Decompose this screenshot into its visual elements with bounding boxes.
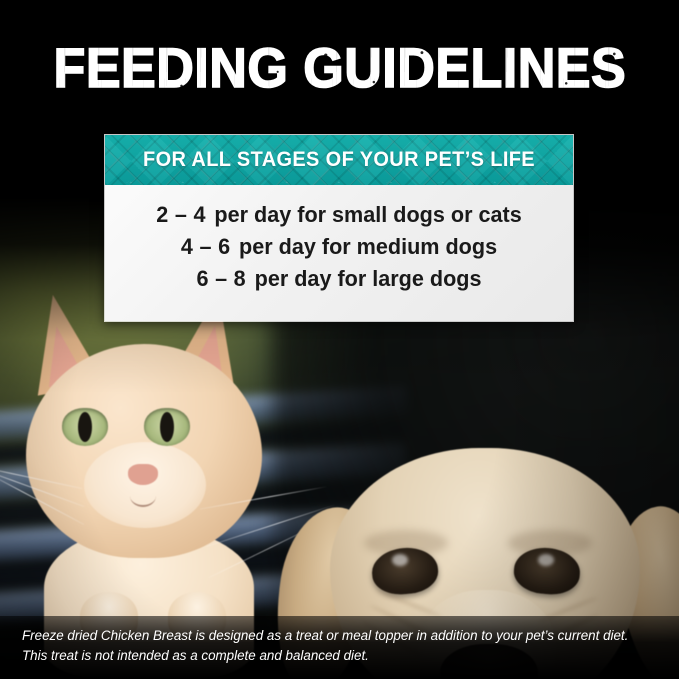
background-photo bbox=[0, 0, 679, 679]
guideline-text: per day for medium dogs bbox=[239, 234, 497, 259]
dog-eye-highlight-left bbox=[392, 554, 408, 566]
kitten-mouth bbox=[130, 485, 156, 507]
page-title-text: FEEDING GUIDELINES bbox=[53, 40, 626, 96]
disclaimer-line-2: This treat is not intended as a complete… bbox=[22, 646, 661, 666]
card-header-banner: FOR ALL STAGES OF YOUR PET’S LIFE bbox=[105, 135, 573, 185]
feeding-guidelines-card: FOR ALL STAGES OF YOUR PET’S LIFE 2 – 4p… bbox=[104, 134, 574, 322]
guideline-amount: 4 – 6 bbox=[181, 234, 230, 259]
card-body: 2 – 4per day for small dogs or cats 4 – … bbox=[105, 185, 573, 321]
kitten-photo-subject bbox=[10, 292, 310, 652]
guideline-amount: 2 – 4 bbox=[156, 202, 205, 227]
kitten-nose bbox=[128, 464, 158, 485]
kitten-pupil-left bbox=[78, 412, 92, 442]
feeding-guidelines-poster: FEEDING GUIDELINES FOR ALL STAGES OF YOU… bbox=[0, 0, 679, 679]
guideline-row-medium: 4 – 6per day for medium dogs bbox=[114, 231, 563, 263]
card-header-title: FOR ALL STAGES OF YOUR PET’S LIFE bbox=[117, 135, 562, 185]
guideline-text: per day for large dogs bbox=[255, 266, 482, 291]
guideline-row-small: 2 – 4per day for small dogs or cats bbox=[114, 199, 563, 231]
guideline-text: per day for small dogs or cats bbox=[214, 202, 521, 227]
kitten-pupil-right bbox=[160, 412, 174, 442]
disclaimer-bar: Freeze dried Chicken Breast is designed … bbox=[0, 616, 679, 679]
page-title: FEEDING GUIDELINES bbox=[0, 40, 679, 96]
disclaimer-line-1: Freeze dried Chicken Breast is designed … bbox=[22, 626, 661, 646]
guideline-amount: 6 – 8 bbox=[197, 266, 246, 291]
guideline-row-large: 6 – 8per day for large dogs bbox=[114, 263, 563, 295]
dog-eye-highlight-right bbox=[538, 554, 554, 566]
